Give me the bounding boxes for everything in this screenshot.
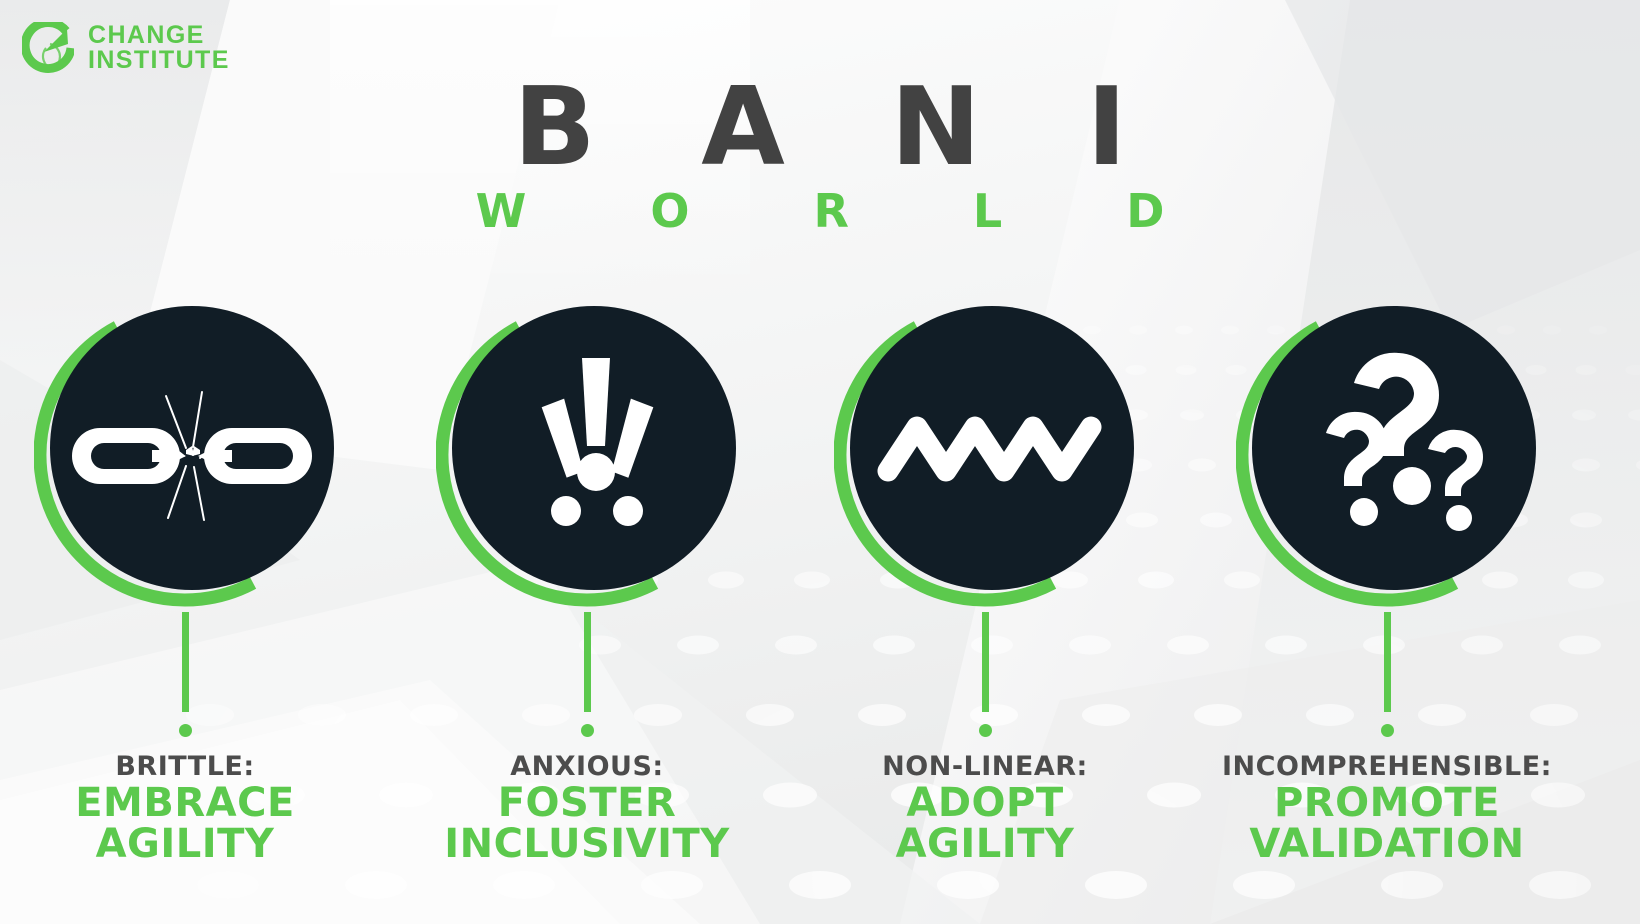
pillar-caption: BRITTLE: EMBRACE AGILITY (75, 753, 295, 864)
pillar-caption: INCOMPREHENSIBLE: PROMOTE VALIDATION (1222, 753, 1552, 864)
connector-line (584, 612, 591, 712)
pillar-badge[interactable] (436, 300, 738, 612)
connector-dot (979, 724, 992, 737)
pillar-caption: ANXIOUS: FOSTER INCLUSIVITY (444, 753, 730, 864)
connector-line (182, 612, 189, 712)
pillar-action-line2: AGILITY (75, 824, 295, 865)
pillar-action-line1: EMBRACE (75, 783, 295, 824)
connector-line (1384, 612, 1391, 712)
pillar-non-linear[interactable]: NON-LINEAR: ADOPT AGILITY (784, 300, 1186, 864)
pillar-action-line2: AGILITY (882, 824, 1088, 865)
pillar-badge[interactable] (1236, 300, 1538, 612)
pillar-anxious[interactable]: ANXIOUS: FOSTER INCLUSIVITY (386, 300, 788, 864)
pillar-action: FOSTER INCLUSIVITY (444, 783, 730, 865)
pillar-action: ADOPT AGILITY (882, 783, 1088, 865)
pillar-badge[interactable] (834, 300, 1136, 612)
brand-name-line1: CHANGE (88, 23, 230, 49)
pillar-brittle[interactable]: BRITTLE: EMBRACE AGILITY (0, 300, 386, 864)
page-title: B A N I (0, 74, 1640, 182)
pillar-action-line1: ADOPT (882, 783, 1088, 824)
connector-dot (1381, 724, 1394, 737)
pillar-term: BRITTLE: (75, 753, 295, 781)
connector-dot (581, 724, 594, 737)
pillar-action-line2: VALIDATION (1222, 824, 1552, 865)
pillar-action-line1: FOSTER (444, 783, 730, 824)
connector-dot (179, 724, 192, 737)
pillar-action-line2: INCLUSIVITY (444, 824, 730, 865)
pillar-term: ANXIOUS: (444, 753, 730, 781)
pillar-term: INCOMPREHENSIBLE: (1222, 753, 1552, 781)
page-subtitle: W O R L D (0, 188, 1640, 234)
pillar-action-line1: PROMOTE (1222, 783, 1552, 824)
brand-name-line2: INSTITUTE (88, 48, 230, 74)
pillar-incomprehensible[interactable]: INCOMPREHENSIBLE: PROMOTE VALIDATION (1186, 300, 1588, 864)
infographic-canvas: CHANGE INSTITUTE B A N I W O R L D (0, 0, 1640, 924)
circular-arrow-logo-icon (22, 22, 74, 74)
pillar-caption: NON-LINEAR: ADOPT AGILITY (882, 753, 1088, 864)
title-block: B A N I W O R L D (0, 74, 1640, 234)
pillar-action: PROMOTE VALIDATION (1222, 783, 1552, 865)
pillar-badge[interactable] (34, 300, 336, 612)
pillar-action: EMBRACE AGILITY (75, 783, 295, 865)
brand-logo[interactable]: CHANGE INSTITUTE (22, 22, 230, 74)
connector-line (982, 612, 989, 712)
pillar-term: NON-LINEAR: (882, 753, 1088, 781)
